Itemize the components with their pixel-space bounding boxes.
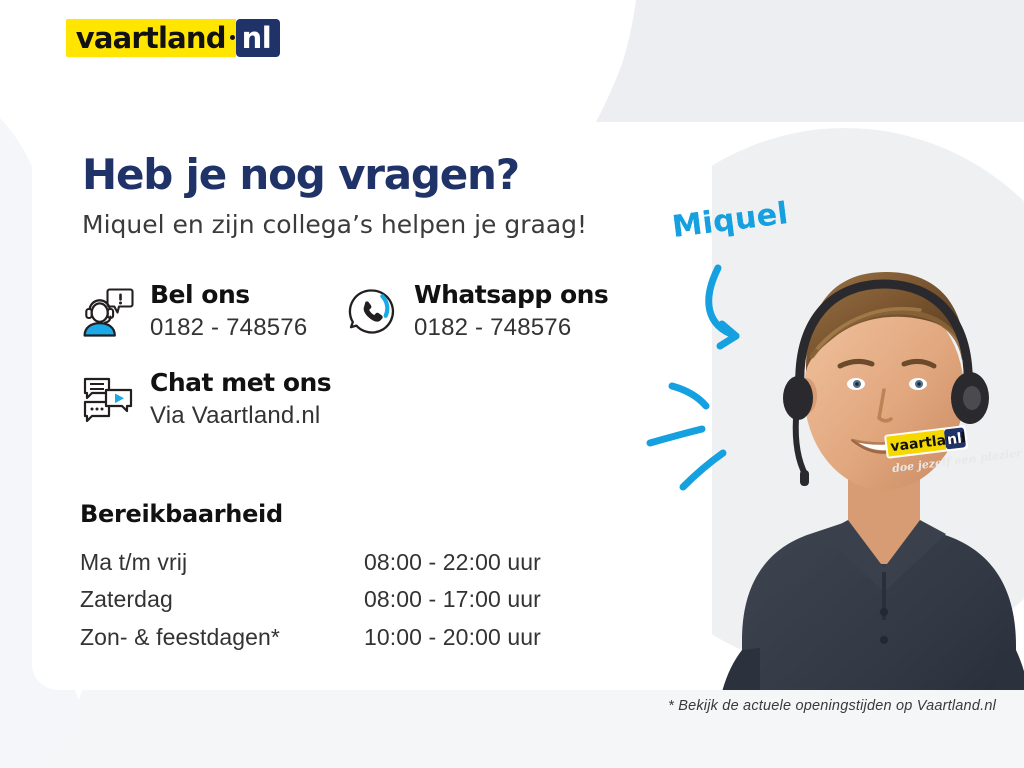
footnote: * Bekijk de actuele openingstijden op Va… (668, 698, 996, 714)
spark-stroke-3 (683, 453, 723, 487)
promo-banner: vaartland nl Heb je nog vragen? Miquel e… (0, 0, 1024, 768)
spark-stroke-1 (672, 386, 706, 406)
spark-stroke-2 (650, 429, 702, 443)
handdrawn-annotations (0, 0, 1024, 768)
